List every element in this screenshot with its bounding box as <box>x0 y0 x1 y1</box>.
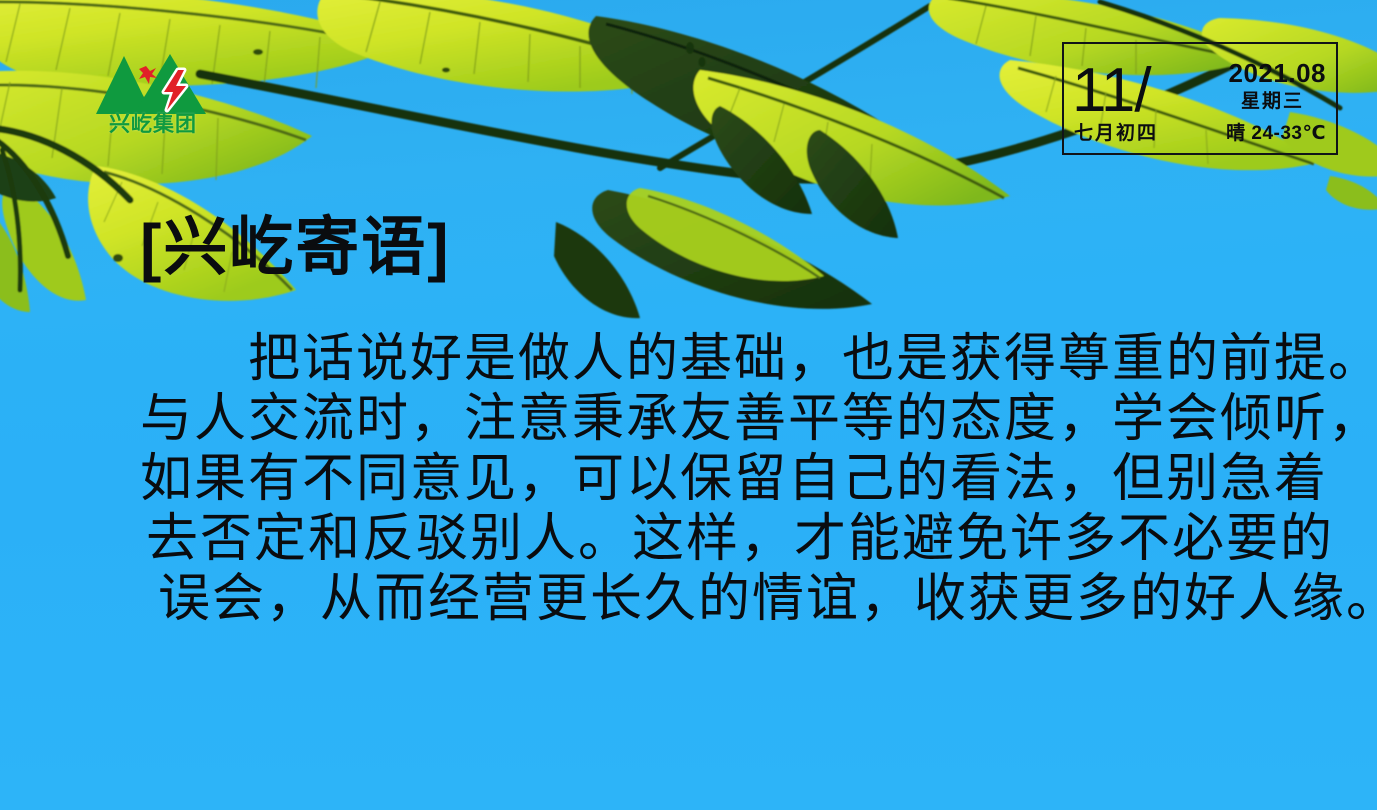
quote-line: 去否定和反驳别人。这样，才能避免许多不必要的 <box>140 510 1300 570</box>
quote-line: 如果有不同意见，可以保留自己的看法，但别急着 <box>140 450 1300 510</box>
quote-line: 与人交流时，注意秉承友善平等的态度，学会倾听， <box>140 390 1300 450</box>
date-day: 11/ <box>1072 60 1151 122</box>
brand-logo: 兴屹集团 <box>94 52 212 148</box>
weather-summary: 晴 24-33℃ <box>1226 124 1326 143</box>
date-lunar: 七月初四 <box>1074 124 1158 143</box>
quote-line: 把话说好是做人的基础，也是获得尊重的前提。 <box>140 330 1300 390</box>
poster-canvas: 兴屹集团 11/ 2021.08 星期三 七月初四 晴 24-33℃ [兴屹寄语… <box>0 0 1377 810</box>
mountain-logo-icon <box>94 52 212 118</box>
quote-line: 误会，从而经营更长久的情谊，收获更多的好人缘。 <box>140 570 1300 630</box>
quote-body: 把话说好是做人的基础，也是获得尊重的前提。 与人交流时，注意秉承友善平等的态度，… <box>140 330 1300 630</box>
date-weekday: 星期三 <box>1241 92 1304 111</box>
logo-wordmark: 兴屹集团 <box>94 114 212 135</box>
date-year-month: 2021.08 <box>1229 60 1326 86</box>
page-title: [兴屹寄语] <box>140 212 451 282</box>
date-weather-box: 11/ 2021.08 星期三 七月初四 晴 24-33℃ <box>1062 42 1338 155</box>
